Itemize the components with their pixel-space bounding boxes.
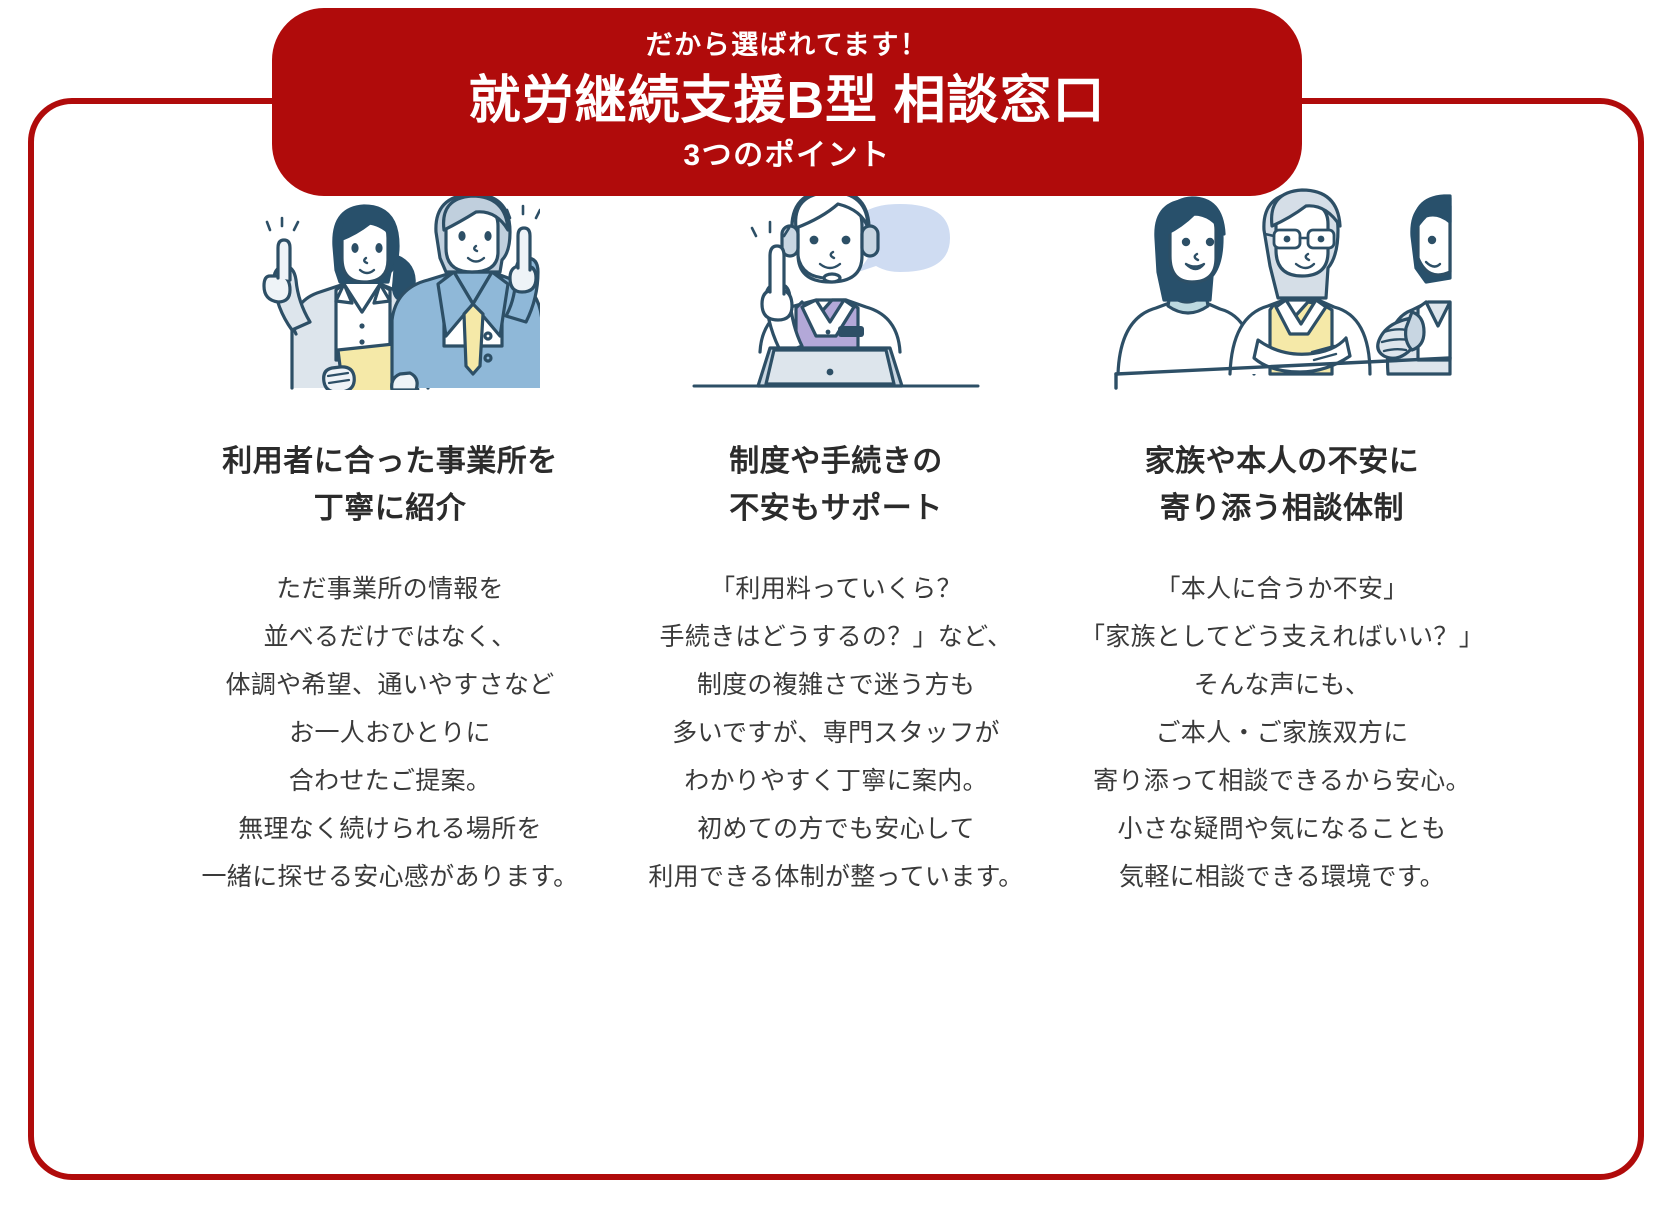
point-body-line: 利用できる体制が整っています。 [648, 853, 1023, 901]
point-body-line: 無理なく続けられる場所を [201, 805, 578, 853]
infographic-root: だから選ばれてます！ 就労継続支援B型 相談窓口 3つのポイント [0, 0, 1672, 1211]
point-title-1: 利用者に合った事業所を 丁寧に紹介 [222, 438, 558, 533]
point-body-line: 合わせたご提案。 [201, 757, 578, 805]
point-title-line: 寄り添う相談体制 [1145, 485, 1420, 532]
point-body-line: 初めての方でも安心して [648, 805, 1023, 853]
point-body-line: 体調や希望、通いやすさなど [201, 661, 578, 709]
point-body-line: 多いですが、専門スタッフが [648, 709, 1023, 757]
point-column-1: 利用者に合った事業所を 丁寧に紹介 ただ事業所の情報を 並べるだけではなく、 体… [167, 150, 613, 901]
point-body-line: 小さな疑問や気になることも [1080, 805, 1484, 853]
point-title-line: 利用者に合った事業所を [222, 438, 558, 485]
point-column-2: 制度や手続きの 不安もサポート 「利用料っていくら？ 手続きはどうするの？」など… [613, 150, 1059, 901]
header-banner: だから選ばれてます！ 就労継続支援B型 相談窓口 3つのポイント [272, 8, 1302, 196]
point-body-line: 気軽に相談できる環境です。 [1080, 853, 1484, 901]
point-body-line: 「利用料っていくら？ [648, 565, 1023, 613]
point-body-line: 「家族としてどう支えればいい？」 [1080, 613, 1484, 661]
banner-title: 就労継続支援B型 相談窓口 [468, 69, 1105, 134]
banner-kicker: だから選ばれてます！ [646, 30, 929, 61]
banner-subtitle: 3つのポイント [683, 138, 890, 174]
point-body-3: 「本人に合うか不安」 「家族としてどう支えればいい？」 そんな声にも、 ご本人・… [1080, 565, 1484, 901]
point-title-line: 家族や本人の不安に [1145, 438, 1420, 485]
point-title-2: 制度や手続きの 不安もサポート [729, 438, 943, 533]
point-title-3: 家族や本人の不安に 寄り添う相談体制 [1145, 438, 1420, 533]
point-body-line: お一人おひとりに [201, 709, 578, 757]
point-body-line: 一緒に探せる安心感があります。 [201, 853, 578, 901]
point-title-line: 丁寧に紹介 [222, 485, 558, 532]
point-body-line: 制度の複雑さで迷う方も [648, 661, 1023, 709]
point-body-line: わかりやすく丁寧に案内。 [648, 757, 1023, 805]
points-row: 利用者に合った事業所を 丁寧に紹介 ただ事業所の情報を 並べるだけではなく、 体… [0, 150, 1672, 901]
point-body-line: 寄り添って相談できるから安心。 [1080, 757, 1484, 805]
point-title-line: 制度や手続きの [729, 438, 943, 485]
point-body-line: 並べるだけではなく、 [201, 613, 578, 661]
point-body-2: 「利用料っていくら？ 手続きはどうするの？」など、 制度の複雑さで迷う方も 多い… [648, 565, 1023, 901]
point-body-line: ただ事業所の情報を [201, 565, 578, 613]
point-body-1: ただ事業所の情報を 並べるだけではなく、 体調や希望、通いやすさなど お一人おひ… [201, 565, 578, 901]
point-title-line: 不安もサポート [729, 485, 943, 532]
point-body-line: 「本人に合うか不安」 [1080, 565, 1484, 613]
point-body-line: 手続きはどうするの？」など、 [648, 613, 1023, 661]
point-body-line: ご本人・ご家族双方に [1080, 709, 1484, 757]
point-body-line: そんな声にも、 [1080, 661, 1484, 709]
point-column-3: 家族や本人の不安に 寄り添う相談体制 「本人に合うか不安」 「家族としてどう支え… [1059, 150, 1505, 901]
